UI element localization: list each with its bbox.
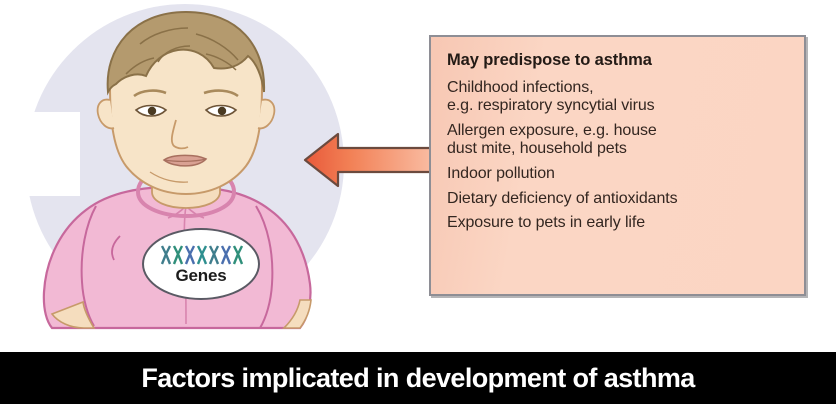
factor-item: Allergen exposure, e.g. house dust mite,… [447, 122, 791, 158]
background-notch [0, 112, 80, 196]
factor-line-1: Exposure to pets in early life [447, 214, 645, 231]
factor-line-2: e.g. respiratory syncytial virus [447, 97, 791, 115]
figure-caption: Factors implicated in development of ast… [141, 363, 694, 394]
caption-bar: Factors implicated in development of ast… [0, 352, 836, 404]
factor-item: Dietary deficiency of antioxidants [447, 190, 791, 208]
factor-item: Exposure to pets in early life [447, 214, 791, 232]
factor-item: Indoor pollution [447, 165, 791, 183]
left-pointing-arrow [302, 131, 434, 189]
chromosomes-icon [158, 244, 244, 266]
factor-line-1: Indoor pollution [447, 165, 555, 182]
factor-line-1: Childhood infections, [447, 79, 593, 96]
asthma-factors-figure: Genes May predispose to asthma Childhood… [0, 0, 836, 404]
factor-line-1: Allergen exposure, e.g. house [447, 122, 657, 139]
factor-line-2: dust mite, household pets [447, 140, 791, 158]
factor-item: Childhood infections, e.g. respiratory s… [447, 79, 791, 115]
panel-heading: May predispose to asthma [447, 51, 791, 70]
factor-line-1: Dietary deficiency of antioxidants [447, 190, 678, 207]
genes-label: Genes [176, 267, 227, 284]
genes-badge: Genes [142, 228, 260, 300]
child-illustration: Genes [0, 0, 420, 352]
predisposing-factors-panel: May predispose to asthma Childhood infec… [429, 35, 806, 296]
